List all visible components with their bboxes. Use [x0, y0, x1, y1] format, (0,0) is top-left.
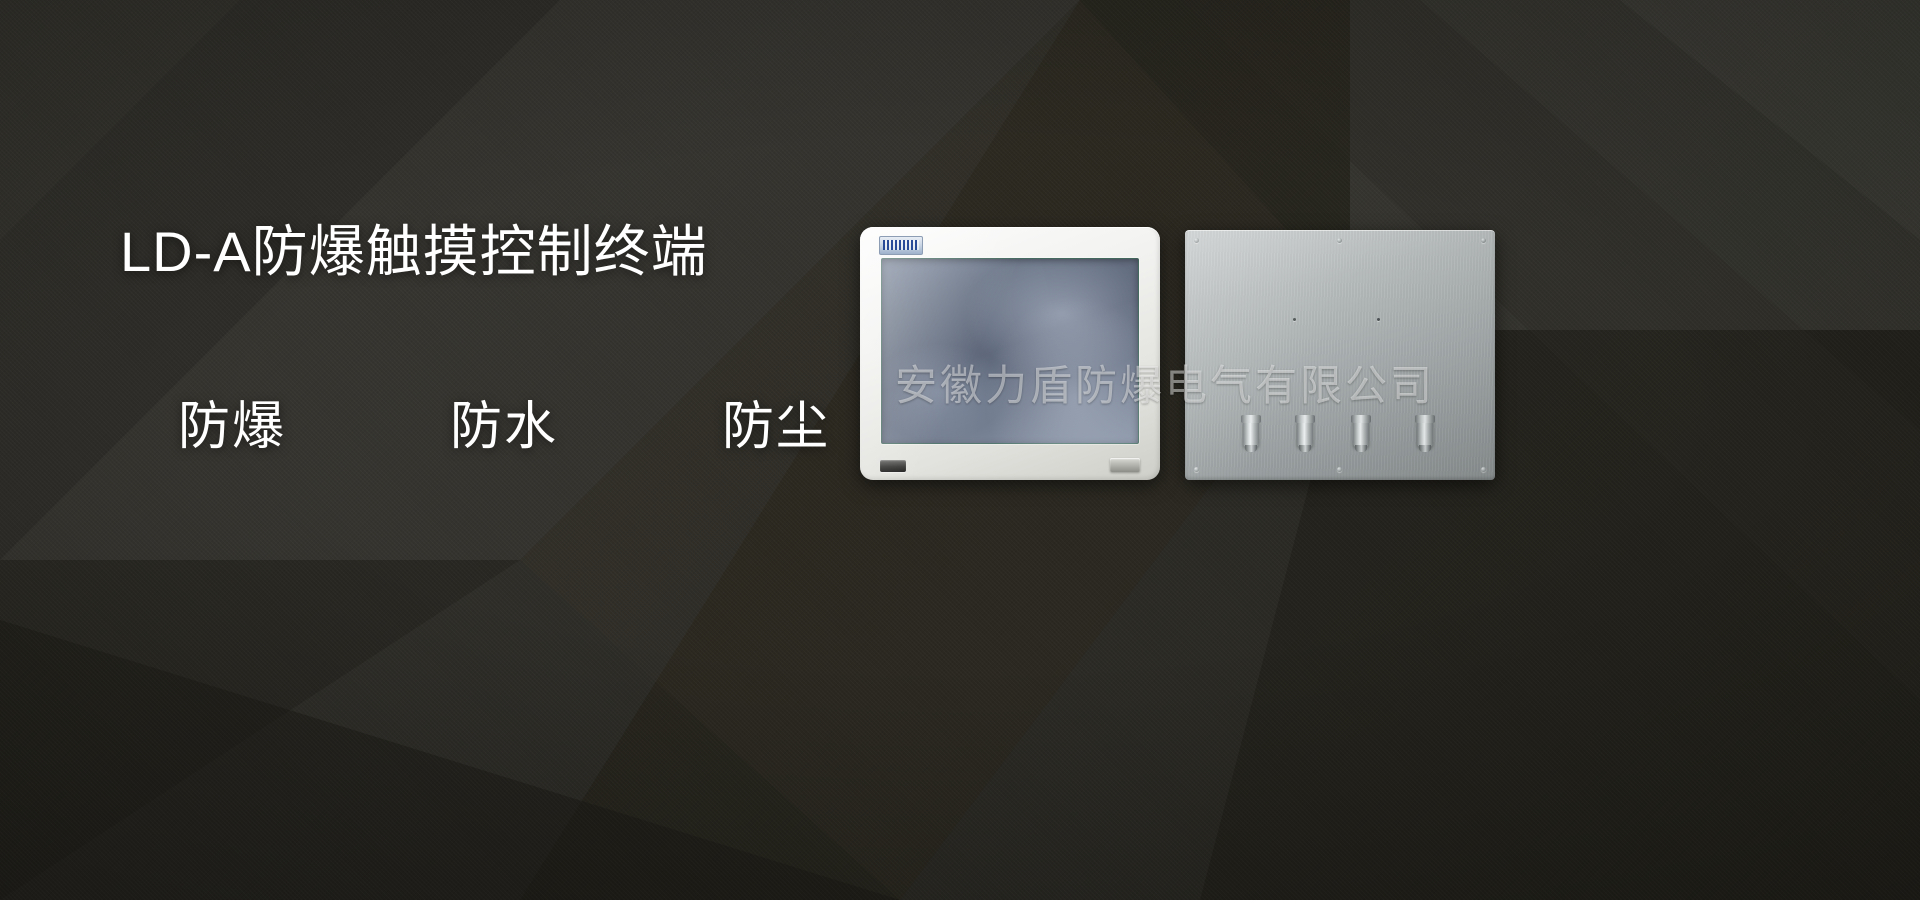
touch-screen — [881, 258, 1139, 444]
page-title: LD-A防爆触摸控制终端 — [120, 222, 912, 282]
front-port-right-icon — [1110, 458, 1140, 472]
screw-icon — [1337, 238, 1342, 243]
cable-gland-icon — [1353, 419, 1369, 447]
screw-icon — [1194, 467, 1199, 472]
product-back-view — [1185, 230, 1495, 480]
product-banner: LD-A防爆触摸控制终端 防爆 防水 防尘 — [0, 0, 1920, 900]
screw-icon — [1481, 238, 1486, 243]
headline-block: LD-A防爆触摸控制终端 防爆 防水 防尘 — [120, 222, 912, 459]
screw-icon — [1194, 238, 1199, 243]
feature-list: 防爆 防水 防尘 — [96, 384, 912, 459]
feature-item-waterproof: 防水 — [368, 384, 640, 459]
cable-gland-icon — [1297, 419, 1313, 447]
cable-gland-icon — [1417, 419, 1433, 447]
product-images — [860, 225, 1530, 490]
front-port-left-icon — [880, 460, 906, 472]
feature-item-dustproof: 防尘 — [640, 384, 912, 459]
cable-gland-icon — [1243, 419, 1259, 447]
vent-dot-icon — [1293, 318, 1296, 321]
screw-icon — [1481, 467, 1486, 472]
screw-icon — [1337, 467, 1342, 472]
vent-dot-icon — [1377, 318, 1380, 321]
feature-item-explosion-proof: 防爆 — [96, 384, 368, 459]
